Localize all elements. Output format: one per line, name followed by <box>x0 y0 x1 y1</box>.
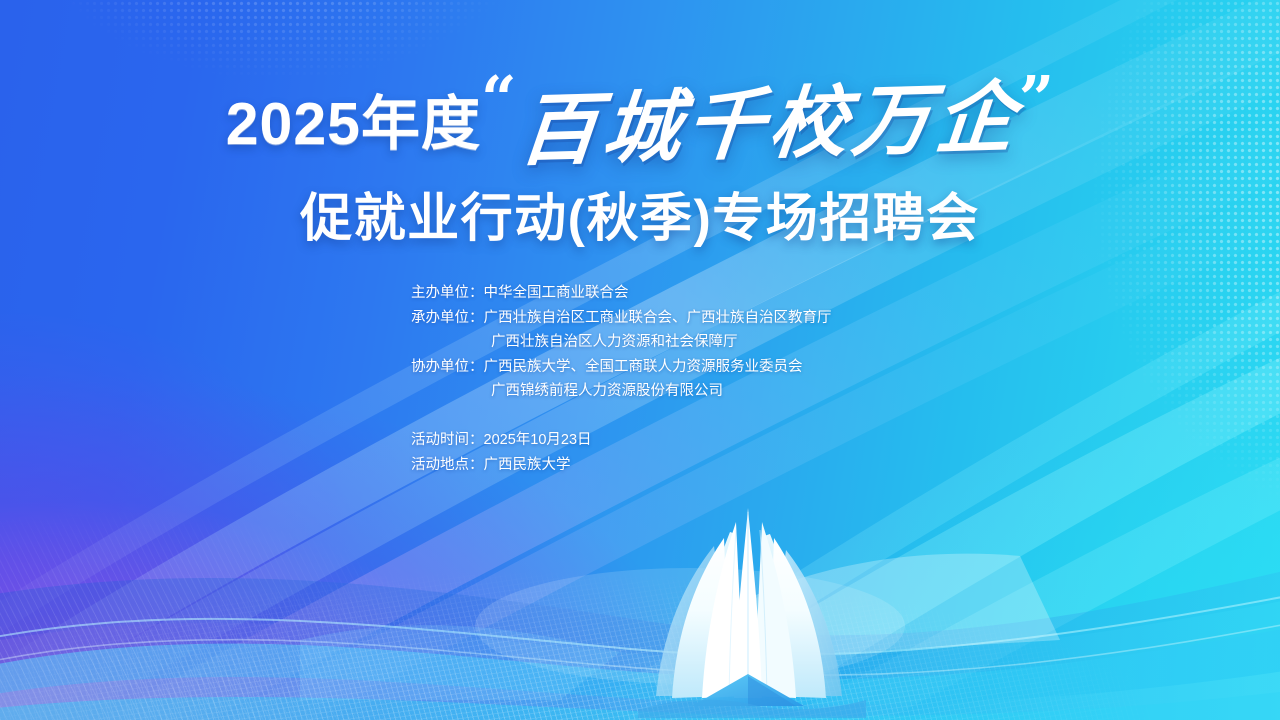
credit-value: 中华全国工商业联合会 <box>484 285 629 301</box>
credit-value: 广西壮族自治区工商业联合会、广西壮族自治区教育厅 <box>484 310 832 326</box>
credit-label: 协办单位： <box>411 355 484 380</box>
event-location-label: 活动地点： <box>411 457 484 473</box>
title-prefix: 2025年度 <box>226 76 481 161</box>
title-brush-slogan: 百城千校万企 <box>515 55 1025 181</box>
event-time-row: 活动时间：2025年10月23日 <box>411 428 592 453</box>
credit-label: 主办单位： <box>411 281 484 306</box>
credit-line: 协办单位：广西民族大学、全国工商联人力资源服务业委员会 <box>411 355 832 380</box>
event-location-value: 广西民族大学 <box>484 457 571 473</box>
event-time-label: 活动时间： <box>411 432 484 448</box>
event-meta: 活动时间：2025年10月23日 活动地点：广西民族大学 <box>411 428 592 478</box>
event-location-row: 活动地点：广西民族大学 <box>411 453 592 478</box>
page-subtitle: 促就业行动(秋季)专场招聘会 <box>0 176 1280 251</box>
credit-label: 承办单位： <box>411 306 484 331</box>
event-poster: 2025年度“百城千校万企” 促就业行动(秋季)专场招聘会 主办单位：中华全国工… <box>0 0 1280 720</box>
page-title: 2025年度“百城千校万企” <box>0 62 1280 174</box>
title-quote-close: ” <box>1019 62 1055 135</box>
credit-value: 广西壮族自治区人力资源和社会保障厅 <box>491 334 738 350</box>
credit-line: 广西壮族自治区人力资源和社会保障厅 <box>411 330 832 355</box>
credit-line: 广西锦绣前程人力资源股份有限公司 <box>411 379 832 404</box>
credit-value: 广西民族大学、全国工商联人力资源服务业委员会 <box>484 359 803 375</box>
credit-line: 主办单位：中华全国工商业联合会 <box>411 281 832 306</box>
title-quote-open: “ <box>481 62 517 135</box>
event-time-value: 2025年10月23日 <box>484 432 592 448</box>
credit-value: 广西锦绣前程人力资源股份有限公司 <box>491 383 723 399</box>
organizer-credits: 主办单位：中华全国工商业联合会 承办单位：广西壮族自治区工商业联合会、广西壮族自… <box>411 281 832 404</box>
credit-line: 承办单位：广西壮族自治区工商业联合会、广西壮族自治区教育厅 <box>411 306 832 331</box>
landmark-building-graphic <box>598 460 898 720</box>
